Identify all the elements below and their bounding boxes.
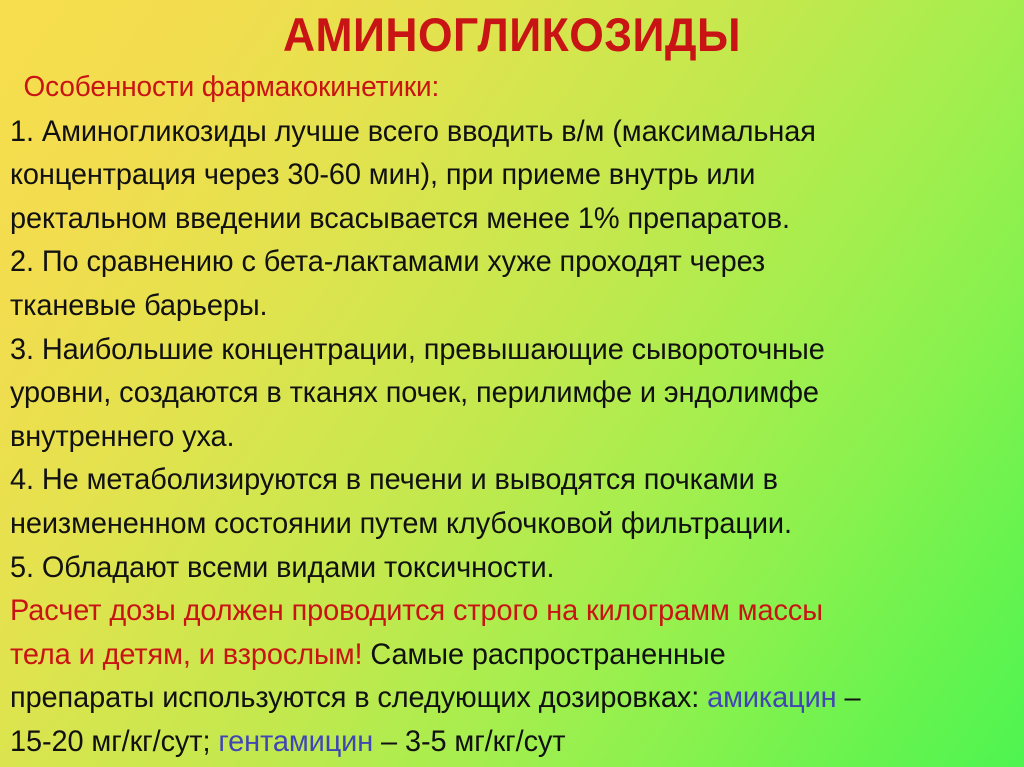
dosage-warning-line-1: Расчет дозы должен проводится строго на … [10,589,823,633]
dosage-line-amikacin: препараты используются в следующих дозир… [10,676,860,720]
body-line-6: 3. Наибольшие концентрации, превышающие … [10,328,825,372]
common-drugs-intro-text: Самые распространенные [362,638,725,671]
presentation-slide: АМИНОГЛИКОЗИДЫ Особенности фармакокинети… [0,0,1024,767]
body-line-5: тканевые барьеры. [10,284,267,328]
dosage-amikacin-value: 15-20 мг/кг/сут; [10,725,218,758]
body-line-1: 1. Аминогликозиды лучше всего вводить в/… [10,110,816,154]
dosage-warning-line-2: тела и детям, и взрослым! Самые распрост… [10,633,726,677]
drug-name-gentamicin: гентамицин [218,725,373,758]
dosage-lead-text: препараты используются в следующих дозир… [10,681,707,714]
drug-name-amikacin: амикацин [707,681,836,714]
body-line-7: уровни, создаются в тканях почек, перили… [10,371,819,415]
dosage-line-gentamicin: 15-20 мг/кг/сут; гентамицин – 3-5 мг/кг/… [10,720,565,764]
slide-subtitle: Особенности фармакокинетики: [10,66,439,110]
body-line-3: ректальном введении всасывается менее 1%… [10,197,790,241]
dosage-dash-1: – [837,681,861,714]
slide-body: Особенности фармакокинетики: 1. Аминогли… [10,66,1014,764]
dosage-gentamicin-value: – 3-5 мг/кг/сут [373,725,565,758]
body-line-8: внутреннего уха. [10,415,234,459]
body-line-10: неизмененном состоянии путем клубочковой… [10,502,792,546]
dosage-warning-red-text: тела и детям, и взрослым! [10,638,362,671]
body-line-11: 5. Обладают всеми видами токсичности. [10,546,555,590]
slide-title: АМИНОГЛИКОЗИДЫ [28,6,996,64]
body-line-4: 2. По сравнению с бета-лактамами хуже пр… [10,240,765,284]
body-line-2: концентрация через 30-60 мин), при прием… [10,153,755,197]
body-line-9: 4. Не метаболизируются в печени и выводя… [10,458,778,502]
